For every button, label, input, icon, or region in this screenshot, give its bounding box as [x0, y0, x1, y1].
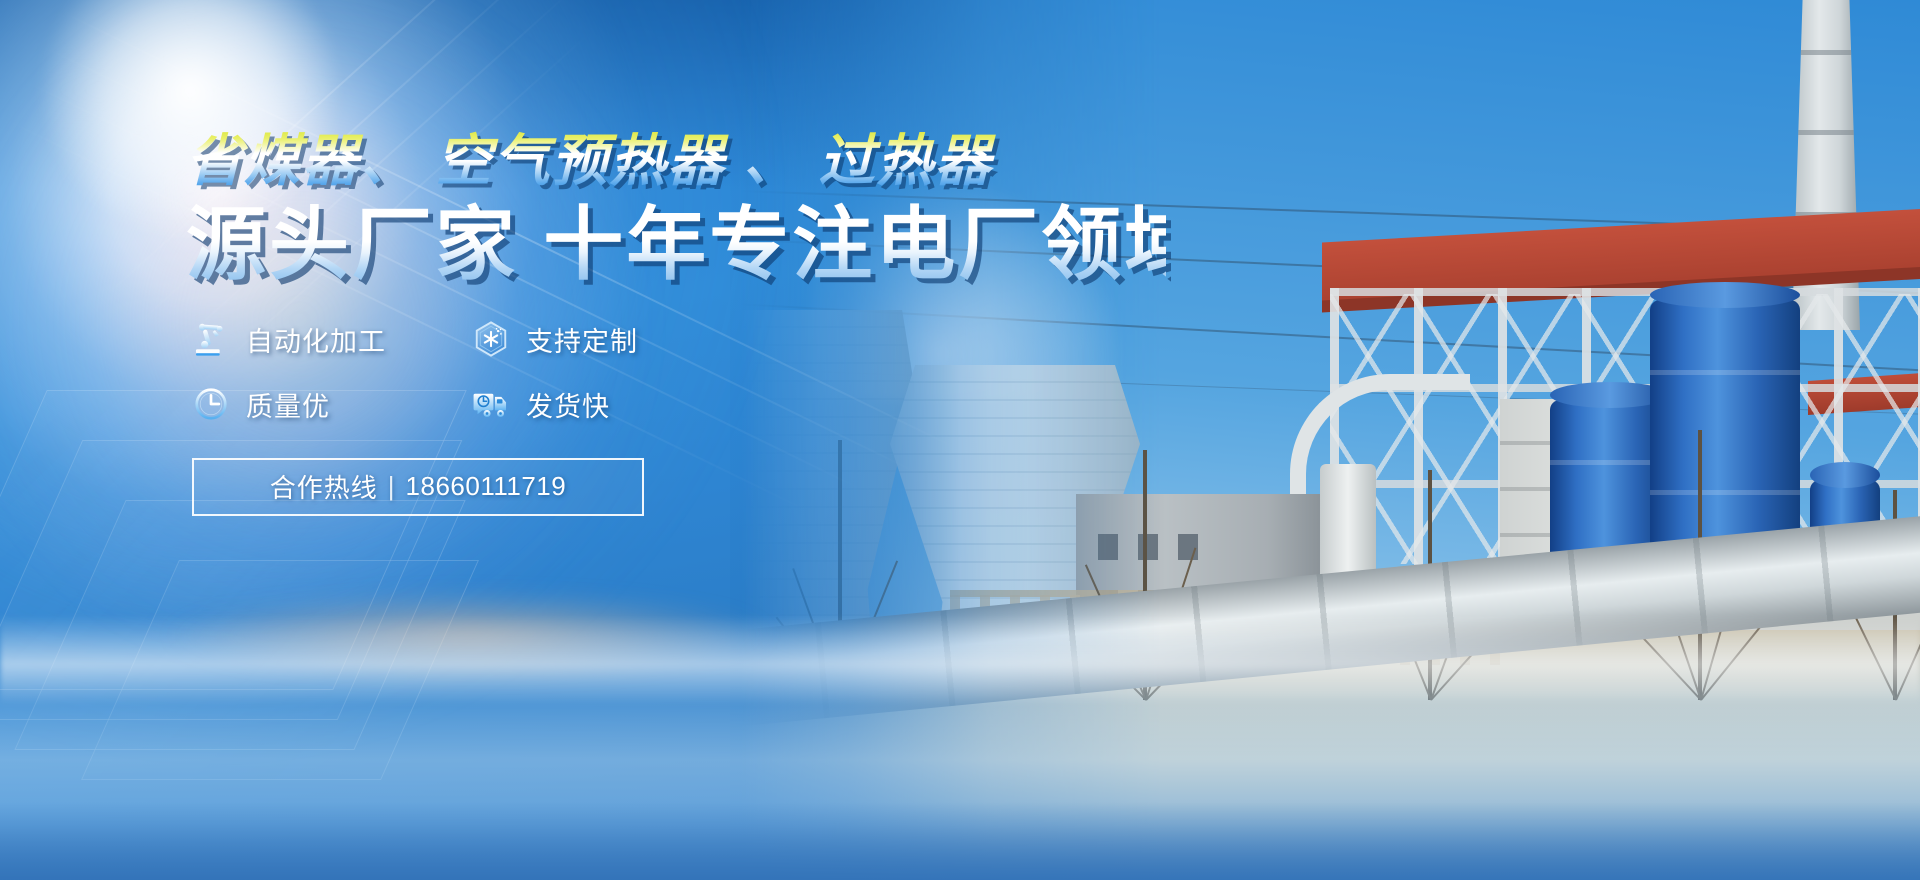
hotline-number: 18660111719 — [406, 471, 567, 502]
hotline-label: 合作热线 — [270, 468, 378, 505]
feature-label: 支持定制 — [526, 320, 638, 359]
banner-content: 省煤器、 空气预热器 、 过热器 源头厂家 十年专注电厂领域 — [186, 128, 1166, 516]
headline-subtitle: 省煤器、 空气预热器 、 过热器 — [186, 128, 1166, 194]
feature-label: 质量优 — [246, 385, 330, 424]
delivery-truck-icon — [472, 385, 510, 423]
robot-arm-icon — [192, 320, 230, 358]
feature-label: 自动化加工 — [246, 320, 386, 359]
clock-icon — [192, 385, 230, 423]
feature-item-customization: 支持定制 — [472, 320, 752, 359]
hotline-box[interactable]: 合作热线 | 18660111719 — [192, 458, 644, 516]
feature-list: 自动化加工 — [192, 320, 1166, 424]
bottom-edge-shade — [0, 802, 1920, 880]
hotline-separator: | — [388, 471, 396, 502]
headline-title: 源头厂家 十年专注电厂领域 — [186, 200, 1166, 290]
feature-label: 发货快 — [526, 385, 610, 424]
promo-banner: 省煤器、 空气预热器 、 过热器 源头厂家 十年专注电厂领域 — [0, 0, 1920, 880]
snowflake-hexagon-icon — [472, 320, 510, 358]
feature-item-quality: 质量优 — [192, 385, 472, 424]
bottom-sheen — [0, 615, 1920, 705]
feature-item-automation: 自动化加工 — [192, 320, 472, 359]
feature-item-shipping: 发货快 — [472, 385, 752, 424]
